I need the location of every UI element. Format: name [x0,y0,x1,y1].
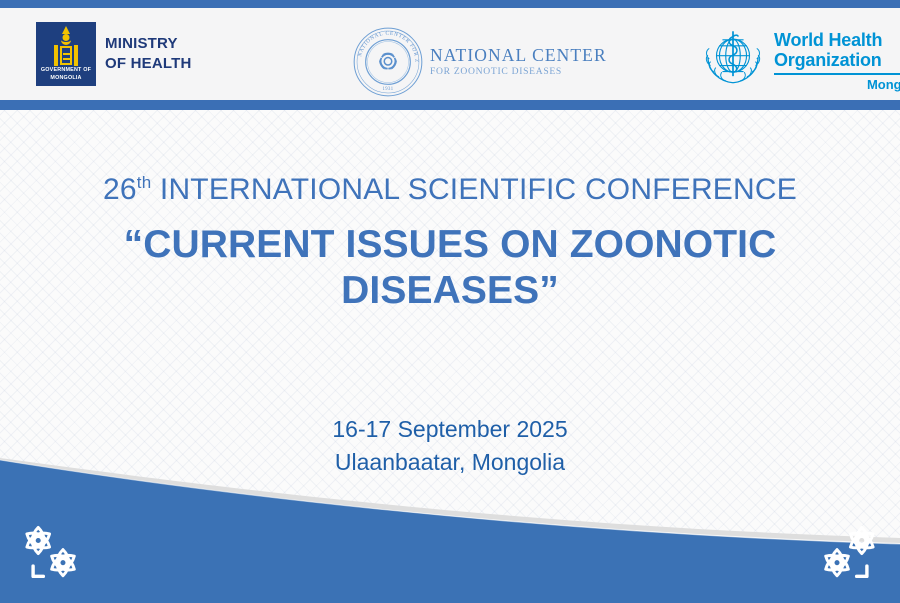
national-center-zoonotic-diseases-logo: NATIONAL CENTER FOR ZOONOTIC DISEASES 19… [352,26,607,98]
svg-text:1931: 1931 [382,87,393,92]
crest-caption-line-1: GOVERNMENT OF [36,66,96,74]
title-block: 26th INTERNATIONAL SCIENTIFIC CONFERENCE… [0,172,900,314]
national-center-wordmark: NATIONAL CENTER FOR ZOONOTIC DISEASES [430,46,607,78]
who-country-label: Mongolia [774,77,900,92]
crest-caption-line-2: MONGOLIA [36,74,96,82]
crest-caption: GOVERNMENT OF MONGOLIA [36,66,96,82]
logo-row: GOVERNMENT OF MONGOLIA MINISTRY OF HEALT… [0,8,900,100]
ministry-of-health-logo: GOVERNMENT OF MONGOLIA MINISTRY OF HEALT… [36,22,192,86]
ministry-name-line-1: MINISTRY [105,34,192,54]
who-mongolia-logo: World Health Organization Mongolia [700,26,900,92]
conference-edition-line: 26th INTERNATIONAL SCIENTIFIC CONFERENCE [0,172,900,208]
ministry-of-health-name: MINISTRY OF HEALTH [105,34,192,75]
mongolian-ulzii-knot-ornament [800,520,886,590]
who-rod-of-asclepius-globe-icon [700,26,766,92]
bottom-wave-band [0,440,900,603]
edition-ordinal-suffix: th [137,173,152,192]
who-name-line-1: World Health [774,30,900,50]
who-divider-rule [774,73,900,75]
conference-title-slide: GOVERNMENT OF MONGOLIA MINISTRY OF HEALT… [0,0,900,603]
who-name-line-2: Organization [774,50,900,70]
who-wordmark: World Health Organization Mongolia [774,26,900,92]
national-center-line-2: FOR ZOONOTIC DISEASES [430,67,607,78]
mongolian-ulzii-knot-ornament [14,520,100,590]
mongolia-soyombo-crest-icon: GOVERNMENT OF MONGOLIA [36,22,96,86]
edition-rest: INTERNATIONAL SCIENTIFIC CONFERENCE [151,173,797,206]
soyombo-symbol-icon [54,26,78,66]
edition-number: 26 [103,173,137,206]
top-accent-bar [0,0,900,8]
national-center-line-1: NATIONAL CENTER [430,46,607,65]
page-title: “CURRENT ISSUES ON ZOONOTIC DISEASES” [0,222,900,314]
biohazard-seal-icon: NATIONAL CENTER FOR ZOONOTIC DISEASES 19… [352,26,424,98]
ministry-name-line-2: OF HEALTH [105,54,192,74]
header-divider-bar [0,100,900,110]
